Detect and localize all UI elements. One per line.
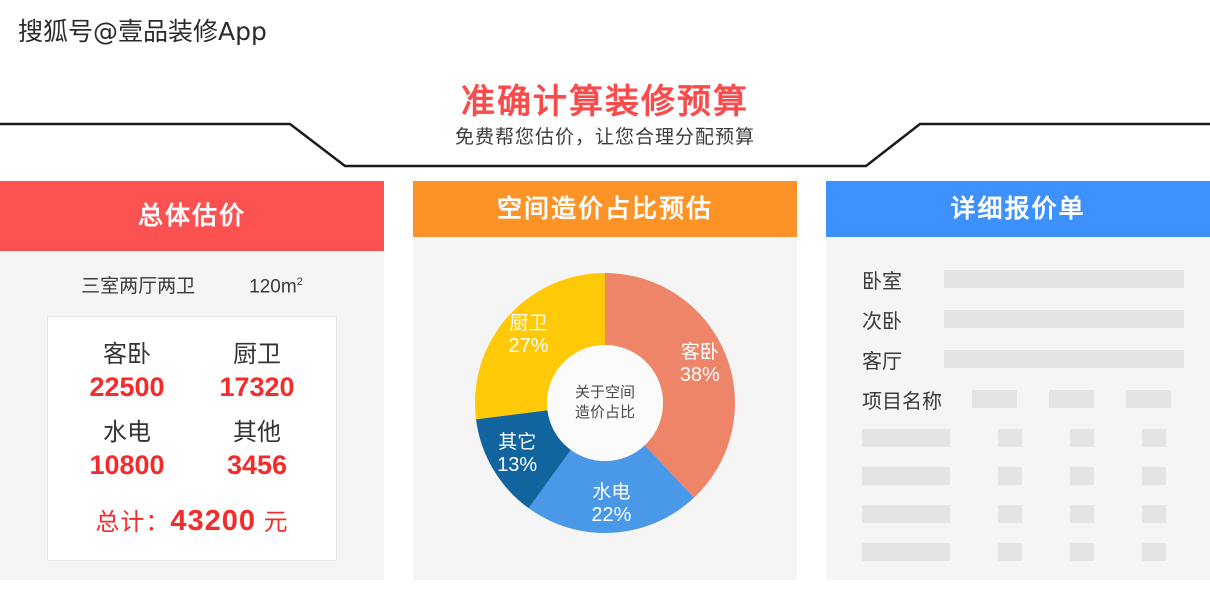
quote-skeleton-row <box>862 457 1184 495</box>
house-area-unit: 2 <box>297 276 303 288</box>
overall-estimate-card: 总体估价 三室两厅两卫 120m2 客卧 22500 厨卫 17320 水电 1… <box>0 181 384 580</box>
estimate-item: 其他 3456 <box>192 418 322 482</box>
quote-row-placeholder <box>944 270 1184 288</box>
overall-estimate-header: 总体估价 <box>0 181 384 251</box>
estimate-item-label: 其他 <box>192 418 322 448</box>
donut-label-value: 38% <box>660 364 740 387</box>
estimate-item-label: 水电 <box>62 418 192 448</box>
quote-cell-placeholder <box>1049 390 1094 408</box>
quote-skeleton-cell <box>1142 467 1166 485</box>
quote-cell-placeholder <box>972 390 1017 408</box>
quote-skeleton-cell <box>1142 543 1166 561</box>
quote-row-label: 卧室 <box>862 265 944 294</box>
space-cost-ratio-card: 空间造价占比预估 关于空间 造价占比 客卧38%水电22%其它13%厨卫27% <box>413 181 797 580</box>
detailed-quote-body: 卧室 次卧 客厅 项目名称 <box>826 237 1210 571</box>
donut-label-name: 水电 <box>571 481 651 504</box>
donut-label-value: 13% <box>477 454 557 477</box>
page-title: 准确计算装修预算 <box>0 74 1210 123</box>
page-subtitle: 免费帮您估价，让您合理分配预算 <box>0 122 1210 149</box>
estimate-item-label: 客卧 <box>62 340 192 370</box>
estimate-item: 水电 10800 <box>62 418 192 482</box>
donut-label-name: 厨卫 <box>488 312 568 335</box>
quote-column-headers-placeholder <box>972 390 1184 408</box>
quote-skeleton-cell <box>1070 467 1094 485</box>
house-layout-label: 三室两厅两卫 <box>81 271 195 298</box>
estimate-total: 总计：43200 元 <box>48 502 336 538</box>
overall-estimate-meta: 三室两厅两卫 120m2 <box>0 271 384 298</box>
donut-chart: 关于空间 造价占比 客卧38%水电22%其它13%厨卫27% <box>475 273 735 533</box>
donut-label-value: 22% <box>571 504 651 527</box>
quote-skeleton-cell <box>1070 505 1094 523</box>
donut-label-厨卫: 厨卫27% <box>488 312 568 358</box>
quote-row-label: 次卧 <box>862 305 944 334</box>
estimate-total-unit: 元 <box>264 509 289 536</box>
watermark-text: 搜狐号@壹品装修App <box>18 12 267 48</box>
quote-skeleton-row <box>862 419 1184 457</box>
quote-skeleton-row <box>862 495 1184 533</box>
quote-skeleton-name <box>862 505 950 523</box>
quote-row: 项目名称 <box>862 379 1184 419</box>
quote-skeleton-cell <box>998 429 1022 447</box>
estimate-item-label: 厨卫 <box>192 340 322 370</box>
donut-label-value: 27% <box>488 335 568 358</box>
house-area-label: 120m2 <box>249 276 303 298</box>
quote-row-placeholder <box>944 310 1184 328</box>
quote-skeleton-cell <box>1070 429 1094 447</box>
donut-center-line1: 关于空间 <box>545 383 665 403</box>
quote-row: 客厅 <box>862 339 1184 379</box>
estimate-item-value: 17320 <box>192 370 322 404</box>
detailed-quote-card: 详细报价单 卧室 次卧 客厅 项目名称 <box>826 181 1210 580</box>
quote-skeleton-row <box>862 533 1184 571</box>
quote-row-placeholder <box>944 350 1184 368</box>
estimate-total-value: 43200 <box>170 505 256 537</box>
donut-label-name: 其它 <box>477 431 557 454</box>
quote-row-label: 客厅 <box>862 345 944 374</box>
estimate-total-label: 总计： <box>95 509 170 536</box>
donut-label-name: 客卧 <box>660 341 740 364</box>
donut-label-其它: 其它13% <box>477 431 557 477</box>
page-header-banner: 准确计算装修预算 免费帮您估价，让您合理分配预算 <box>0 66 1210 170</box>
quote-skeleton-name <box>862 543 950 561</box>
donut-center-line2: 造价占比 <box>545 403 665 423</box>
quote-skeleton-cell <box>1070 543 1094 561</box>
quote-cell-placeholder <box>1126 390 1171 408</box>
detailed-quote-header: 详细报价单 <box>826 181 1210 237</box>
donut-label-水电: 水电22% <box>571 481 651 527</box>
space-cost-ratio-header: 空间造价占比预估 <box>413 181 797 237</box>
quote-skeleton-cell <box>1142 505 1166 523</box>
estimate-item-value: 3456 <box>192 448 322 482</box>
quote-row: 卧室 <box>862 259 1184 299</box>
estimate-item: 厨卫 17320 <box>192 340 322 404</box>
estimate-item-value: 22500 <box>62 370 192 404</box>
estimate-breakdown-box: 客卧 22500 厨卫 17320 水电 10800 其他 3456 总计：43… <box>47 316 337 561</box>
quote-skeleton-name <box>862 429 950 447</box>
quote-skeleton-cell <box>998 467 1022 485</box>
house-area-value: 120m <box>249 276 297 297</box>
quote-skeleton-cell <box>1142 429 1166 447</box>
estimate-grid: 客卧 22500 厨卫 17320 水电 10800 其他 3456 <box>48 340 336 482</box>
estimate-item-value: 10800 <box>62 448 192 482</box>
quote-row: 次卧 <box>862 299 1184 339</box>
quote-skeleton-cell <box>998 543 1022 561</box>
estimate-item: 客卧 22500 <box>62 340 192 404</box>
donut-label-客卧: 客卧38% <box>660 341 740 387</box>
quote-row-label: 项目名称 <box>862 385 972 414</box>
donut-center-text: 关于空间 造价占比 <box>545 383 665 423</box>
quote-skeleton-cell <box>998 505 1022 523</box>
quote-skeleton-name <box>862 467 950 485</box>
